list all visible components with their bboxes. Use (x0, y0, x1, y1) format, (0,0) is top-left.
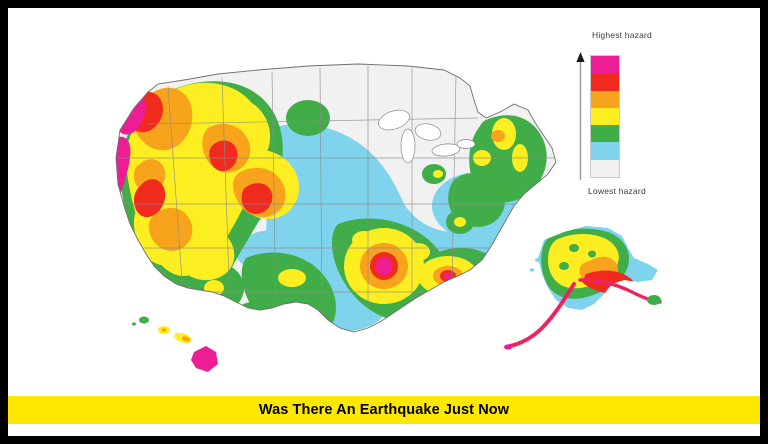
caption-text: Was There An Earthquake Just Now (259, 402, 509, 418)
hazard-legend: Highest hazard Lowest hazard (564, 30, 684, 202)
legend-swatch-orange (591, 91, 619, 108)
up-arrow-icon (576, 52, 584, 62)
legend-swatch-yellow (591, 108, 619, 125)
legend-swatch-red (591, 73, 619, 90)
content-card: Highest hazard Lowest hazard (8, 8, 760, 436)
map-stage: Highest hazard Lowest hazard (8, 8, 760, 380)
legend-swatch-magenta (591, 56, 619, 73)
legend-swatch-blue (591, 142, 619, 159)
conus-hazard-layer (100, 58, 568, 348)
caption-bar: Was There An Earthquake Just Now (8, 396, 760, 424)
legend-lowest-label: Lowest hazard (588, 186, 646, 196)
legend-swatch-white (591, 160, 619, 177)
legend-highest-label: Highest hazard (592, 30, 652, 40)
legend-axis-arrow (576, 52, 585, 180)
hawaii-inset[interactable] (132, 317, 218, 373)
legend-color-bar (590, 55, 620, 178)
alaska-inset[interactable] (504, 218, 678, 350)
screenshot-frame: Highest hazard Lowest hazard (0, 0, 768, 444)
legend-swatch-green (591, 125, 619, 142)
